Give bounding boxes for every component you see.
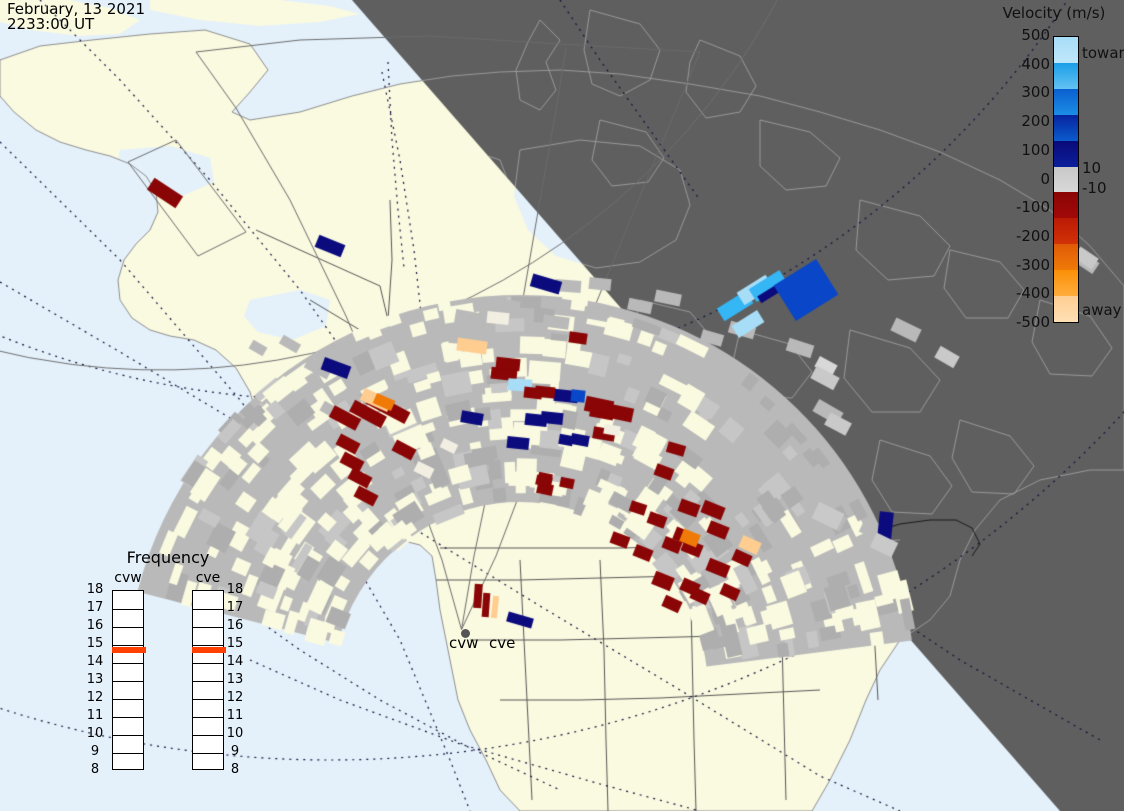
frequency-bar <box>112 590 144 770</box>
frequency-axis-tick: 9 <box>224 745 246 758</box>
frequency-tick-line <box>113 681 143 682</box>
frequency-tick-line <box>113 735 143 736</box>
frequency-tick-line <box>193 753 223 754</box>
frequency-tick-line <box>193 663 223 664</box>
frequency-axis-tick: 15 <box>84 637 106 650</box>
frequency-axis-tick: 12 <box>84 691 106 704</box>
frequency-tick-line <box>193 717 223 718</box>
colorbar-tick: -300 <box>980 258 1050 273</box>
radar-site-label-cvw: cvw <box>449 634 478 652</box>
colorbar-gradient <box>1053 36 1079 323</box>
colorbar-tick: -400 <box>980 286 1050 301</box>
colorbar-segment <box>1054 167 1078 194</box>
frequency-axis-tick: 15 <box>224 637 246 650</box>
frequency-column-label: cve <box>188 570 228 586</box>
frequency-axis-tick: 18 <box>224 583 246 596</box>
colorbar-tick: -500 <box>980 315 1050 330</box>
frequency-axis-tick: 9 <box>84 745 106 758</box>
frequency-tick-line <box>193 699 223 700</box>
colorbar-tick: -200 <box>980 229 1050 244</box>
frequency-axis-tick: 16 <box>84 619 106 632</box>
frequency-axis-tick: 17 <box>84 601 106 614</box>
frequency-value-marker <box>192 647 226 653</box>
colorbar-tick: 100 <box>980 143 1050 158</box>
colorbar-tick: 200 <box>980 114 1050 129</box>
frequency-tick-line <box>113 663 143 664</box>
frequency-axis-tick: 10 <box>224 727 246 740</box>
colorbar-tick-labels: 5004003002001000-100-200-300-400-500 <box>978 0 1050 340</box>
velocity-colorbar-panel: Velocity (m/s) 5004003002001000-100-200-… <box>978 0 1124 340</box>
timestamp-block: February, 13 2021 2233:00 UT <box>7 2 145 32</box>
colorbar-tick: -100 <box>980 200 1050 215</box>
frequency-axis-tick: 11 <box>224 709 246 722</box>
colorbar-segment <box>1054 115 1078 142</box>
frequency-axis-tick: 8 <box>84 763 106 776</box>
frequency-axis-labels: 18171615141312111098 <box>84 590 106 770</box>
colorbar-segment <box>1054 296 1078 322</box>
frequency-axis-tick: 14 <box>84 655 106 668</box>
frequency-tick-line <box>193 627 223 628</box>
frequency-axis-tick: 17 <box>224 601 246 614</box>
frequency-legend: Frequency cvwcve181716151413121110981817… <box>88 548 248 788</box>
frequency-tick-line <box>113 645 143 646</box>
frequency-value-marker <box>112 647 146 653</box>
frequency-tick-line <box>113 753 143 754</box>
frequency-axis-labels: 18171615141312111098 <box>224 590 246 770</box>
colorbar-annotations: toward10-10away <box>1082 0 1124 340</box>
frequency-axis-tick: 13 <box>84 673 106 686</box>
colorbar-tick: 400 <box>980 57 1050 72</box>
colorbar-segment <box>1054 192 1078 219</box>
colorbar-segment <box>1054 141 1078 168</box>
frequency-axis-tick: 13 <box>224 673 246 686</box>
frequency-axis-tick: 12 <box>224 691 246 704</box>
frequency-tick-line <box>193 681 223 682</box>
frequency-axis-tick: 10 <box>84 727 106 740</box>
frequency-tick-line <box>193 735 223 736</box>
frequency-axis-tick: 8 <box>224 763 246 776</box>
frequency-tick-line <box>113 609 143 610</box>
colorbar-segment <box>1054 63 1078 90</box>
colorbar-segment <box>1054 89 1078 116</box>
radar-site-label-cve: cve <box>489 634 515 652</box>
colorbar-note-toward: toward <box>1082 46 1124 61</box>
frequency-tick-line <box>193 645 223 646</box>
colorbar-segment <box>1054 37 1078 64</box>
frequency-title: Frequency <box>88 548 248 567</box>
colorbar-segment <box>1054 244 1078 271</box>
colorbar-note-positive-threshold: 10 <box>1082 161 1101 176</box>
time-label: 2233:00 UT <box>7 17 145 32</box>
colorbar-segment <box>1054 270 1078 297</box>
frequency-tick-line <box>193 609 223 610</box>
colorbar-segment <box>1054 218 1078 245</box>
colorbar-tick: 300 <box>980 85 1050 100</box>
colorbar-tick: 0 <box>980 172 1050 187</box>
frequency-tick-line <box>113 699 143 700</box>
frequency-axis-tick: 16 <box>224 619 246 632</box>
frequency-axis-tick: 18 <box>84 583 106 596</box>
frequency-axis-tick: 14 <box>224 655 246 668</box>
frequency-tick-line <box>113 717 143 718</box>
frequency-axis-tick: 11 <box>84 709 106 722</box>
colorbar-note-away: away <box>1082 303 1122 318</box>
frequency-tick-line <box>113 627 143 628</box>
frequency-bar <box>192 590 224 770</box>
colorbar-note-negative-threshold: -10 <box>1082 181 1107 196</box>
colorbar-tick: 500 <box>980 28 1050 43</box>
radar-map-screenshot: February, 13 2021 2233:00 UT cvw cve Vel… <box>0 0 1124 811</box>
frequency-column-label: cvw <box>108 570 148 586</box>
